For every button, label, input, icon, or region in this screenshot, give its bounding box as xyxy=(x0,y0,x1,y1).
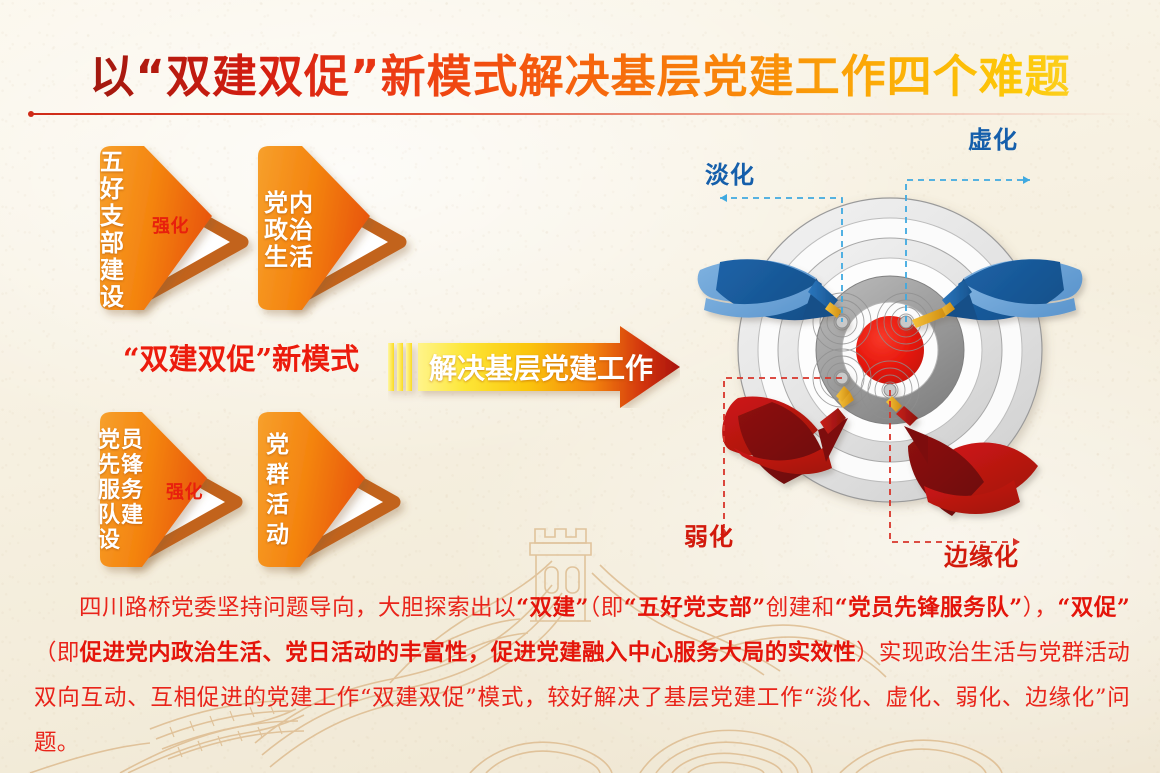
big-arrow[interactable]: 解决基层党建工作 xyxy=(388,326,680,408)
chevron-dangqun-huodong[interactable]: 党 群 活 动 xyxy=(244,404,450,576)
title-block: 以“双建双促”新模式解决基层党建工作四个难题 xyxy=(0,48,1160,106)
chevron-body xyxy=(258,412,365,567)
target-label-xuhua: 虚化 xyxy=(968,120,1018,155)
chevron-body xyxy=(258,146,370,310)
mode-caption: “双建双促”新模式 xyxy=(100,339,382,379)
target-label-ruohua: 弱化 xyxy=(684,517,734,552)
title-divider-dot xyxy=(28,111,34,117)
page-title: 以“双建双促”新模式解决基层党建工作四个难题 xyxy=(0,48,1160,106)
title-divider xyxy=(30,113,1130,115)
slide-canvas: 以“双建双促”新模式解决基层党建工作四个难题 xyxy=(0,0,1160,773)
dartboard-graphic xyxy=(690,150,1090,550)
body-paragraph: 四川路桥党委坚持问题导向，大胆探索出以“双建”（即“五好党支部”创建和“党员先锋… xyxy=(34,586,1130,766)
big-arrow-bars xyxy=(388,343,412,391)
reinforce-label-bottom: 强化 xyxy=(166,478,203,504)
chevron-dangnei-zhengzhi[interactable]: 内 治 活 党 政 生 xyxy=(244,138,450,320)
target-label-danhua: 淡化 xyxy=(705,155,755,190)
reinforce-label-top: 强化 xyxy=(152,212,189,238)
target-label-bianyuan: 边缘化 xyxy=(944,537,1019,572)
big-arrow-shape xyxy=(418,326,680,408)
